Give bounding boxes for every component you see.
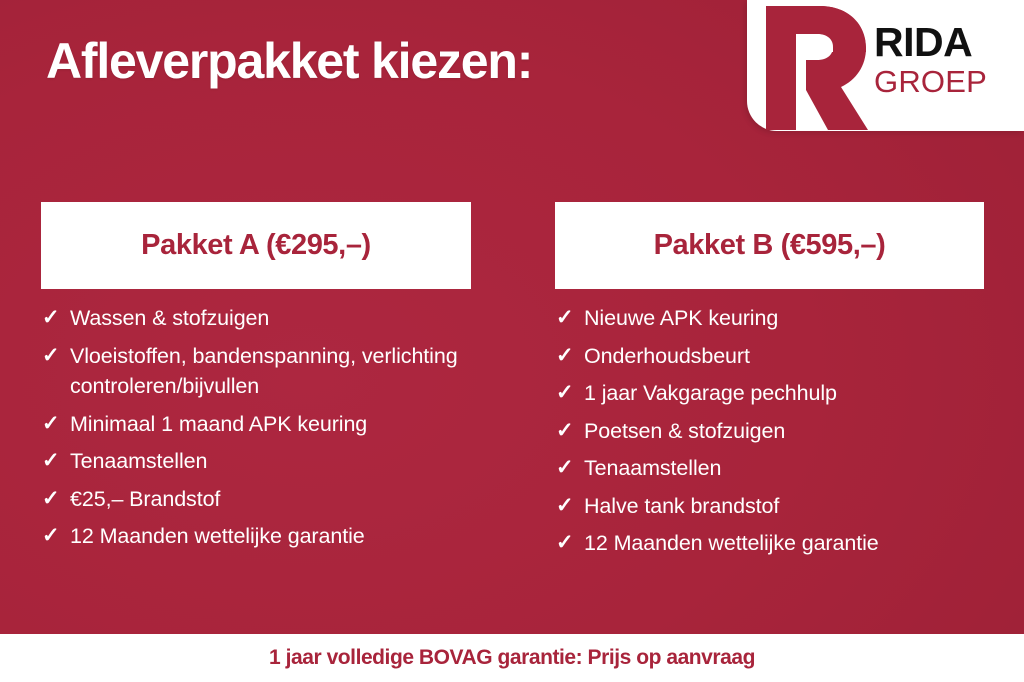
list-item: ✓ Wassen & stofzuigen: [41, 303, 471, 334]
list-item: ✓ 12 Maanden wettelijke garantie: [555, 528, 984, 559]
list-item-label: 1 jaar Vakgarage pechhulp: [584, 378, 984, 409]
list-item: ✓ Minimaal 1 maand APK keuring: [41, 409, 471, 440]
rida-r-logomark-icon: [762, 6, 870, 130]
package-title: Pakket B (€595,–): [654, 229, 886, 262]
check-icon: ✓: [41, 341, 70, 371]
list-item: ✓ Onderhoudsbeurt: [555, 341, 984, 372]
poster-header: Afleverpakket kiezen: RIDA GROEP: [0, 0, 1024, 140]
package-feature-list-pakket-a: ✓ Wassen & stofzuigen ✓ Vloeistoffen, ba…: [41, 289, 471, 552]
list-item-label: Wassen & stofzuigen: [70, 303, 471, 334]
list-item: ✓ Tenaamstellen: [41, 446, 471, 477]
list-item-label: 12 Maanden wettelijke garantie: [70, 521, 471, 552]
package-card-pakket-a[interactable]: Pakket A (€295,–) ✓ Wassen & stofzuigen …: [41, 202, 471, 559]
list-item-label: Tenaamstellen: [584, 453, 984, 484]
check-icon: ✓: [41, 409, 70, 439]
package-header-pakket-b: Pakket B (€595,–): [555, 202, 984, 289]
package-feature-list-pakket-b: ✓ Nieuwe APK keuring ✓ Onderhoudsbeurt ✓…: [555, 289, 984, 559]
list-item-label: Onderhoudsbeurt: [584, 341, 984, 372]
list-item: ✓ Vloeistoffen, bandenspanning, verlicht…: [41, 341, 471, 402]
brand-logo-panel: RIDA GROEP: [747, 0, 1024, 131]
check-icon: ✓: [555, 416, 584, 446]
afleverpakket-poster: Afleverpakket kiezen: RIDA GROEP Pakket …: [0, 0, 1024, 682]
check-icon: ✓: [41, 484, 70, 514]
package-title: Pakket A (€295,–): [141, 229, 371, 262]
list-item-label: Poetsen & stofzuigen: [584, 416, 984, 447]
check-icon: ✓: [555, 341, 584, 371]
list-item: ✓ €25,– Brandstof: [41, 484, 471, 515]
check-icon: ✓: [555, 303, 584, 333]
footer-banner: 1 jaar volledige BOVAG garantie: Prijs o…: [0, 634, 1024, 682]
list-item: ✓ Halve tank brandstof: [555, 491, 984, 522]
brand-wordmark: RIDA GROEP: [874, 22, 1014, 100]
list-item: ✓ 1 jaar Vakgarage pechhulp: [555, 378, 984, 409]
package-columns: Pakket A (€295,–) ✓ Wassen & stofzuigen …: [0, 202, 1024, 622]
list-item: ✓ Tenaamstellen: [555, 453, 984, 484]
package-header-pakket-a: Pakket A (€295,–): [41, 202, 471, 289]
check-icon: ✓: [555, 378, 584, 408]
page-title: Afleverpakket kiezen:: [46, 34, 532, 88]
list-item: ✓ Poetsen & stofzuigen: [555, 416, 984, 447]
brand-suffix: GROEP: [874, 64, 1014, 100]
check-icon: ✓: [41, 521, 70, 551]
list-item-label: Minimaal 1 maand APK keuring: [70, 409, 471, 440]
list-item: ✓ 12 Maanden wettelijke garantie: [41, 521, 471, 552]
check-icon: ✓: [41, 303, 70, 333]
list-item-label: Halve tank brandstof: [584, 491, 984, 522]
brand-logo: RIDA GROEP: [747, 0, 1024, 131]
list-item-label: Tenaamstellen: [70, 446, 471, 477]
list-item-label: €25,– Brandstof: [70, 484, 471, 515]
list-item-label: Vloeistoffen, bandenspanning, verlichtin…: [70, 341, 471, 402]
check-icon: ✓: [41, 446, 70, 476]
footer-text: 1 jaar volledige BOVAG garantie: Prijs o…: [269, 646, 755, 670]
check-icon: ✓: [555, 528, 584, 558]
package-card-pakket-b[interactable]: Pakket B (€595,–) ✓ Nieuwe APK keuring ✓…: [555, 202, 984, 566]
list-item-label: 12 Maanden wettelijke garantie: [584, 528, 984, 559]
list-item-label: Nieuwe APK keuring: [584, 303, 984, 334]
check-icon: ✓: [555, 453, 584, 483]
check-icon: ✓: [555, 491, 584, 521]
brand-name: RIDA: [874, 22, 1014, 62]
list-item: ✓ Nieuwe APK keuring: [555, 303, 984, 334]
